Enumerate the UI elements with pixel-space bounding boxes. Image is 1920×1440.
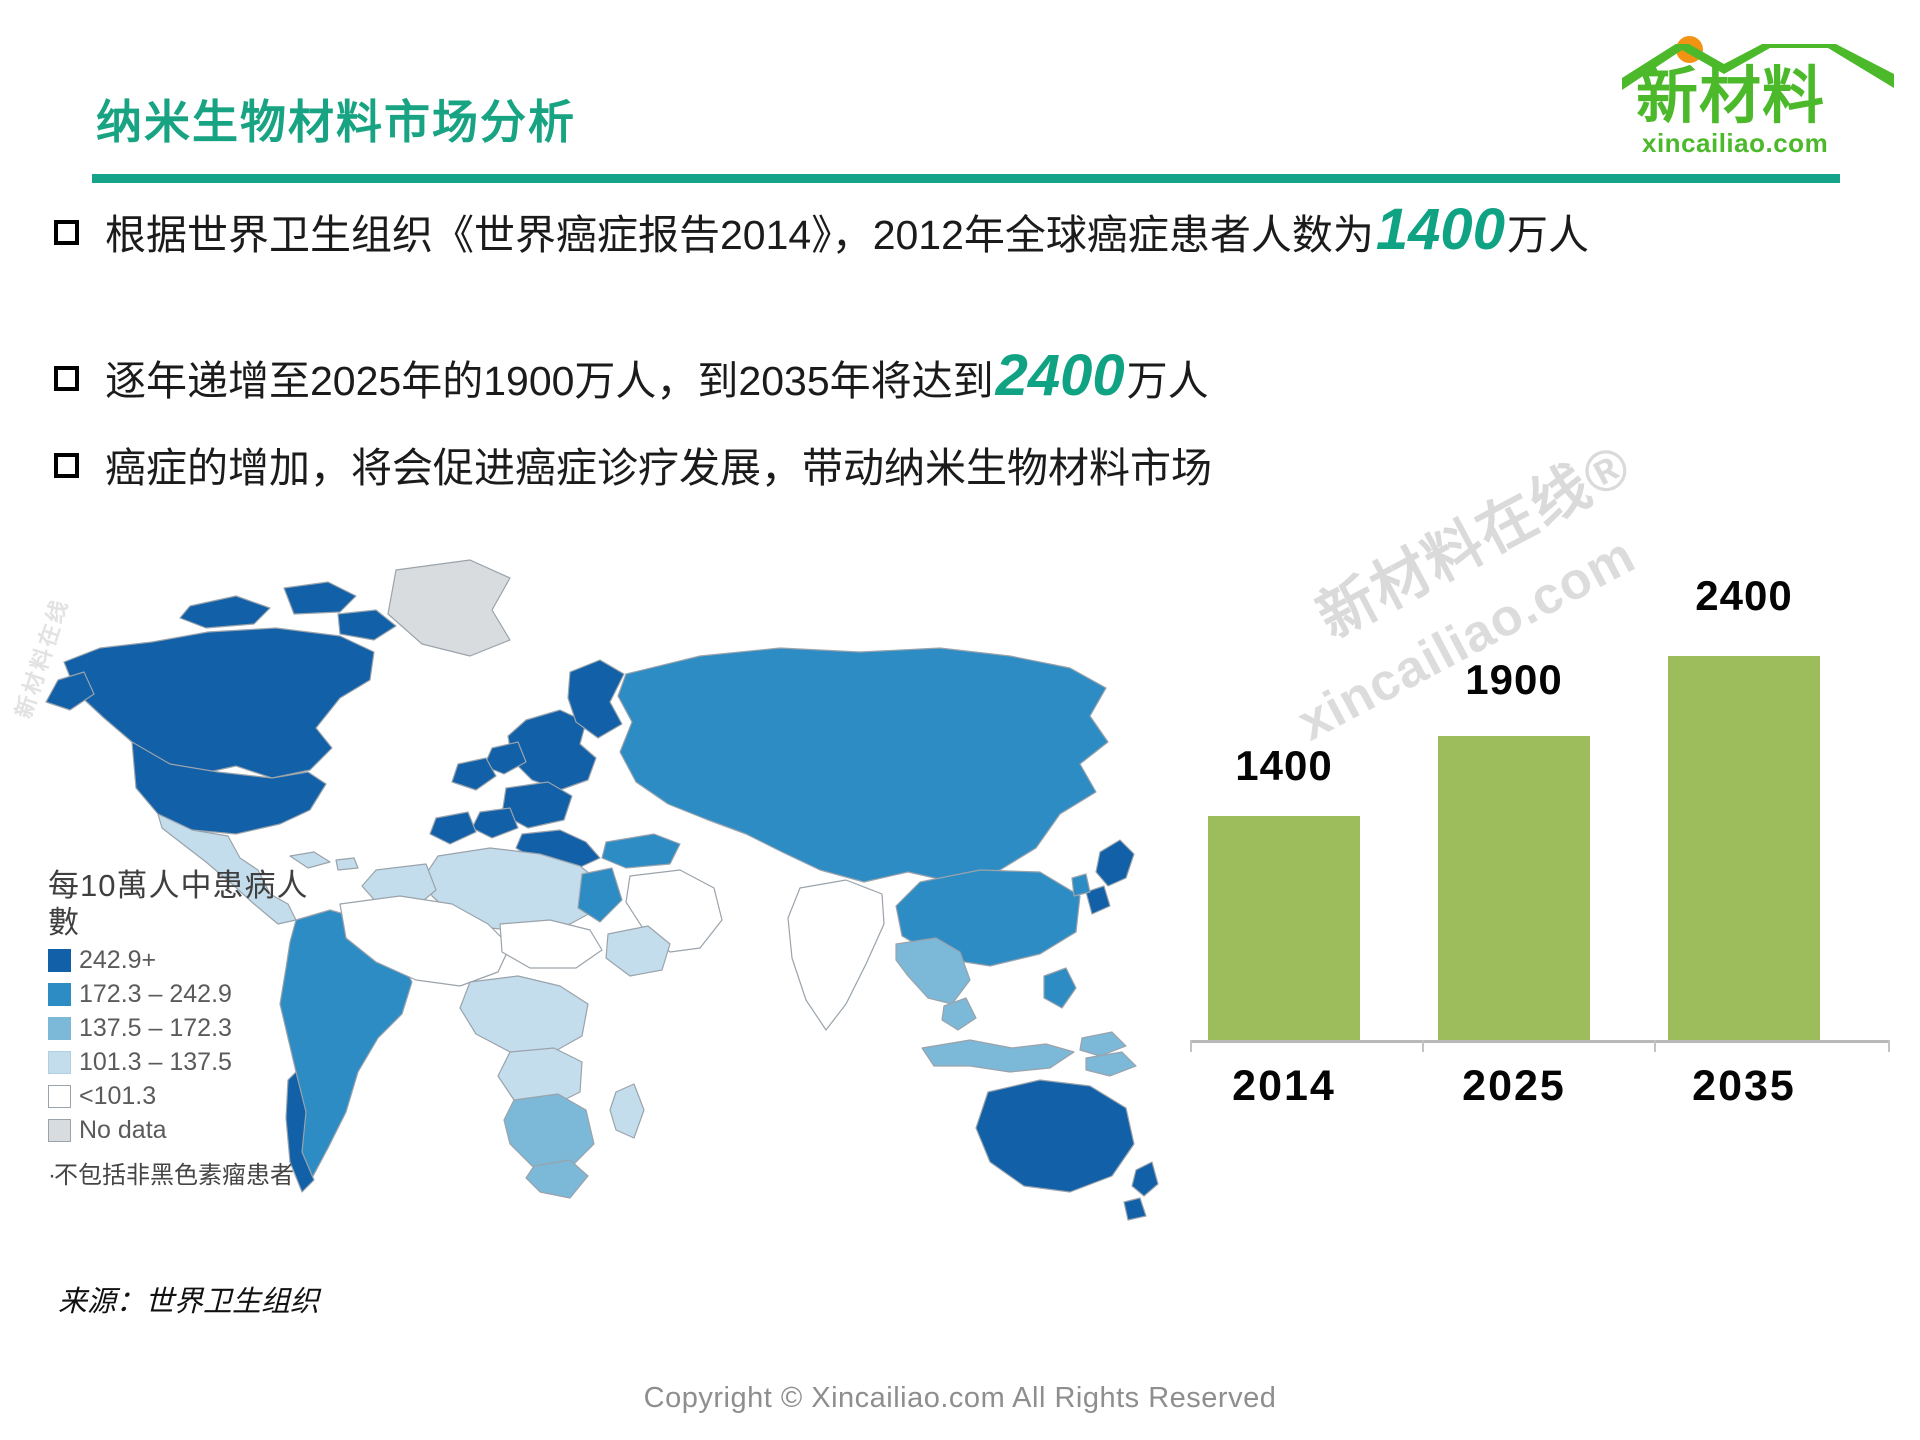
chart-plot-area: 1400 1900 2400	[1190, 600, 1890, 1040]
bar-rect-2035[interactable]	[1668, 656, 1820, 1040]
bar-label-2025: 2025	[1419, 1062, 1609, 1111]
logo-name-cn: 新材料	[1636, 66, 1886, 128]
bullet-item-2: 逐年递增至2025年的1900万人，到2035年将达到2400万人	[54, 344, 1854, 408]
bar-group-2014: 1400	[1204, 600, 1364, 1040]
square-bullet-icon	[54, 453, 79, 478]
world-map-figure: 每10萬人中患病人數 242.9+ 172.3 – 242.9 137.5 – …	[40, 552, 1160, 1232]
bar-rect-2025[interactable]	[1438, 736, 1590, 1040]
legend-item-0: 242.9+	[48, 946, 318, 975]
legend-swatch-0	[48, 949, 71, 972]
bullet-text-1-post: 万人	[1507, 212, 1589, 258]
legend-label-0: 242.9+	[79, 946, 156, 975]
bullet-item-1: 根据世界卫生组织《世界癌症报告2014》，2012年全球癌症患者人数为1400万…	[54, 198, 1854, 262]
title-divider	[92, 174, 1840, 183]
legend-swatch-1	[48, 983, 71, 1006]
legend-item-1: 172.3 – 242.9	[48, 980, 318, 1009]
legend-item-4: <101.3	[48, 1082, 318, 1111]
axis-tick-2	[1654, 1040, 1656, 1052]
bullet-text-1-pre: 根据世界卫生组织《世界癌症报告2014》，2012年全球癌症患者人数为	[105, 212, 1374, 258]
bar-label-2014: 2014	[1189, 1062, 1379, 1111]
bullet-text-1: 根据世界卫生组织《世界癌症报告2014》，2012年全球癌症患者人数为1400万…	[105, 198, 1589, 262]
footer-copyright: Copyright © Xincailiao.com All Rights Re…	[0, 1382, 1920, 1415]
logo-url: xincailiao.com	[1642, 128, 1828, 159]
bullet-item-3: 癌症的增加，将会促进癌症诊疗发展，带动纳米生物材料市场	[54, 446, 1854, 491]
brand-logo[interactable]: 新材料 xincailiao.com	[1620, 14, 1898, 156]
bar-value-2035: 2400	[1664, 572, 1824, 620]
legend-label-2: 137.5 – 172.3	[79, 1014, 232, 1043]
bullet-text-2: 逐年递增至2025年的1900万人，到2035年将达到2400万人	[105, 344, 1209, 408]
bullet-highlight-2400: 2400	[994, 343, 1127, 408]
legend-label-3: 101.3 – 137.5	[79, 1048, 232, 1077]
legend-swatch-5	[48, 1119, 71, 1142]
legend-footnote: ·不包括非黑色素瘤患者	[48, 1155, 318, 1190]
legend-label-4: <101.3	[79, 1082, 156, 1111]
map-legend: 每10萬人中患病人數 242.9+ 172.3 – 242.9 137.5 – …	[48, 868, 318, 1190]
axis-line	[1190, 1040, 1890, 1043]
bar-value-2014: 1400	[1204, 742, 1364, 790]
axis-tick-1	[1422, 1040, 1424, 1052]
bar-group-2035: 2400	[1664, 600, 1824, 1040]
legend-label-5: No data	[79, 1116, 167, 1145]
legend-title: 每10萬人中患病人數	[48, 868, 318, 941]
square-bullet-icon	[54, 220, 79, 245]
legend-item-3: 101.3 – 137.5	[48, 1048, 318, 1077]
square-bullet-icon	[54, 366, 79, 391]
page-title: 纳米生物材料市场分析	[96, 86, 576, 152]
legend-swatch-4	[48, 1085, 71, 1108]
legend-item-2: 137.5 – 172.3	[48, 1014, 318, 1043]
axis-tick-3	[1888, 1040, 1890, 1052]
bullet-text-2-post: 万人	[1127, 358, 1209, 404]
bar-group-2025: 1900	[1434, 600, 1594, 1040]
legend-footnote-text: 不包括非黑色素瘤患者	[54, 1162, 294, 1189]
bar-value-2025: 1900	[1434, 656, 1594, 704]
bullet-text-3: 癌症的增加，将会促进癌症诊疗发展，带动纳米生物材料市场	[105, 446, 1212, 491]
bullet-list: 根据世界卫生组织《世界癌症报告2014》，2012年全球癌症患者人数为1400万…	[54, 198, 1854, 491]
legend-swatch-3	[48, 1051, 71, 1074]
slide-header: 纳米生物材料市场分析 新材料 xincailiao.com	[0, 0, 1920, 200]
legend-swatch-2	[48, 1017, 71, 1040]
bar-label-2035: 2035	[1649, 1062, 1839, 1111]
axis-tick-0	[1190, 1040, 1192, 1052]
bullet-highlight-1400: 1400	[1374, 197, 1507, 262]
bar-chart: 1400 1900 2400 2014 2025 2035	[1190, 600, 1890, 1140]
legend-label-1: 172.3 – 242.9	[79, 980, 232, 1009]
source-note: 来源：世界卫生组织	[58, 1278, 319, 1320]
chart-x-axis	[1190, 1040, 1890, 1052]
bullet-text-2-pre: 逐年递增至2025年的1900万人，到2035年将达到	[105, 358, 994, 404]
legend-item-5: No data	[48, 1116, 318, 1145]
bar-rect-2014[interactable]	[1208, 816, 1360, 1040]
